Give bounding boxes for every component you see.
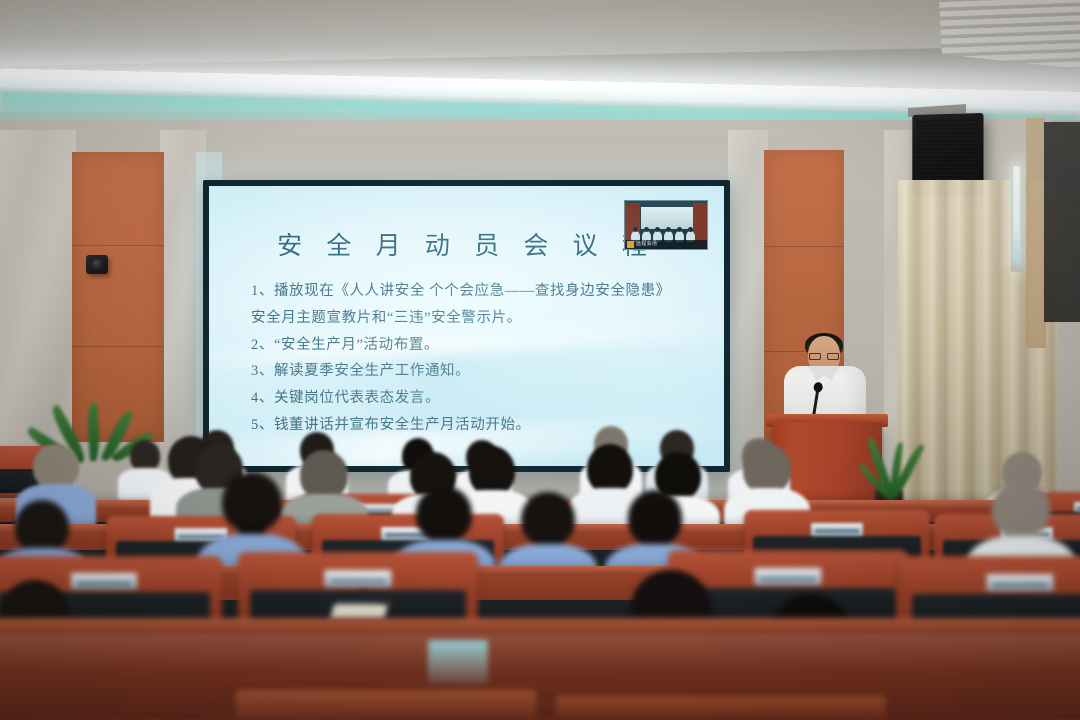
desk-nameplate bbox=[986, 574, 1053, 592]
desk-light-reflection bbox=[428, 640, 488, 684]
person-head bbox=[587, 444, 633, 494]
pip-screen bbox=[641, 207, 693, 229]
chair-front-left[interactable] bbox=[236, 690, 536, 720]
agenda-line: 安全月主题宣教片和“三违”安全警示片。 bbox=[251, 305, 698, 332]
person-head bbox=[15, 500, 69, 554]
projection-screen[interactable]: 安 全 月 动 员 会 议 程 1、播放现在《人人讲安全 个个会应急——查找身边… bbox=[203, 180, 730, 472]
agenda-line: 1、播放现在《人人讲安全 个个会应急——查找身边安全隐患》 bbox=[251, 278, 698, 305]
person-head bbox=[743, 444, 791, 494]
video-conference-inset[interactable]: 远程会场 bbox=[624, 200, 708, 250]
person-head bbox=[992, 480, 1050, 538]
glasses-icon bbox=[809, 353, 839, 360]
desk-gloss bbox=[0, 628, 1080, 672]
agenda-line: 3、解读夏季安全生产工作通知。 bbox=[251, 358, 698, 385]
person-head bbox=[521, 492, 575, 546]
door-frame bbox=[1026, 118, 1046, 348]
wall-speaker-icon bbox=[86, 255, 108, 274]
desk-nameplate bbox=[811, 523, 863, 536]
desk-nameplate bbox=[324, 570, 391, 588]
pip-label: 远程会场 bbox=[636, 240, 657, 249]
desk-nameplate bbox=[754, 568, 821, 586]
agenda-line: 4、关键岗位代表表态发言。 bbox=[251, 385, 698, 412]
slide-agenda-list: 1、播放现在《人人讲安全 个个会应急——查找身边安全隐患》 安全月主题宣教片和“… bbox=[251, 278, 698, 439]
agenda-line: 2、“安全生产月”活动布置。 bbox=[251, 332, 698, 359]
chair-front-right[interactable] bbox=[556, 696, 886, 720]
slide-surface: 安 全 月 动 员 会 议 程 1、播放现在《人人讲安全 个个会应急——查找身边… bbox=[209, 186, 724, 466]
pip-badge-icon bbox=[627, 241, 634, 248]
person-head bbox=[628, 490, 682, 546]
wall-lamp-icon bbox=[1011, 159, 1025, 272]
conference-room-photo: 安 全 月 动 员 会 议 程 1、播放现在《人人讲安全 个个会应急——查找身边… bbox=[0, 0, 1080, 720]
desk-row-1 bbox=[0, 628, 1080, 720]
desk-edge bbox=[0, 618, 1080, 634]
lamp-tube bbox=[1013, 166, 1019, 262]
door bbox=[1044, 122, 1080, 322]
person-head bbox=[222, 472, 282, 532]
person-head bbox=[416, 486, 472, 542]
